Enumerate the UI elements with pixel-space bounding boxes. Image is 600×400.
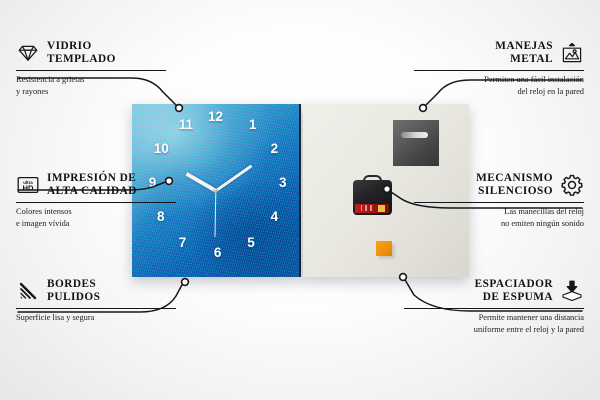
feature-header: MECANISMO SILENCIOSO — [414, 172, 584, 199]
clock-movement — [353, 180, 392, 215]
svg-text:HD: HD — [23, 184, 34, 193]
battery-tick — [370, 205, 371, 211]
feature-vidrio-templado: VIDRIO TEMPLADO Resistencia a grietas y … — [16, 40, 166, 97]
leader-dot-bordes-pulidos — [182, 279, 189, 286]
feature-title: BORDES PULIDOS — [47, 278, 100, 305]
feature-title: IMPRESIÓN DE ALTA CALIDAD — [47, 172, 137, 199]
feature-impresion-alta-calidad: ultra HD IMPRESIÓN DE ALTA CALIDAD Color… — [16, 172, 176, 229]
feature-title: MECANISMO SILENCIOSO — [476, 172, 553, 199]
clock-numeral-2: 2 — [271, 142, 279, 156]
battery-tick — [365, 205, 366, 211]
feature-title-line2: TEMPLADO — [47, 53, 116, 66]
diagonal-edges-icon — [16, 279, 40, 303]
feature-divider — [16, 308, 176, 309]
movement-hanging-loop — [363, 175, 382, 181]
battery-tick — [361, 205, 362, 211]
battery-compartment-label — [355, 204, 389, 213]
feature-description: Permiten una fácil instalación del reloj… — [414, 74, 584, 97]
wall-frame-icon — [560, 41, 584, 65]
feature-title-line2: SILENCIOSO — [476, 185, 553, 198]
feature-espaciador-espuma: ESPACIADOR DE ESPUMA Permite mantener un… — [404, 278, 584, 335]
feature-description: Permite mantener una distancia uniforme … — [404, 312, 584, 335]
feature-divider — [404, 308, 584, 309]
clock-numeral-11: 11 — [179, 118, 193, 132]
feature-title-line2: DE ESPUMA — [475, 291, 553, 304]
feature-title: MANEJAS METAL — [495, 40, 553, 67]
feature-title-line1: IMPRESIÓN DE — [47, 172, 137, 185]
feature-divider — [16, 202, 176, 203]
foam-spacer — [376, 241, 392, 256]
feature-divider — [16, 70, 166, 71]
feature-description: Resistencia a grietas y rayones — [16, 74, 166, 97]
hanger-keyhole-slot — [401, 132, 429, 138]
feature-header: MANEJAS METAL — [414, 40, 584, 67]
clock-numeral-3: 3 — [279, 176, 287, 190]
feature-header: VIDRIO TEMPLADO — [16, 40, 166, 67]
clock-numeral-6: 6 — [214, 246, 222, 260]
clock-numeral-10: 10 — [154, 142, 169, 156]
feature-divider — [414, 70, 584, 71]
feature-title-line2: ALTA CALIDAD — [47, 185, 137, 198]
feature-header: ultra HD IMPRESIÓN DE ALTA CALIDAD — [16, 172, 176, 199]
feature-title-line1: ESPACIADOR — [475, 278, 553, 291]
diamond-icon — [16, 41, 40, 65]
hanger-plate — [393, 120, 439, 166]
feature-bordes-pulidos: BORDES PULIDOS Superficie lisa y segura — [16, 278, 176, 324]
second-hand — [214, 190, 216, 236]
press-down-pad-icon — [560, 279, 584, 303]
feature-title-line1: VIDRIO — [47, 40, 116, 53]
clock-center-cap — [213, 188, 218, 193]
feature-title-line1: MANEJAS — [495, 40, 553, 53]
feature-title-line1: MECANISMO — [476, 172, 553, 185]
feature-manejas-metal: MANEJAS METAL Permiten una fácil instala… — [414, 40, 584, 97]
feature-title: VIDRIO TEMPLADO — [47, 40, 116, 67]
feature-header: ESPACIADOR DE ESPUMA — [404, 278, 584, 305]
feature-description: Las manecillas del reloj no emiten ningú… — [414, 206, 584, 229]
feature-description: Colores intensos e imagen vívida — [16, 206, 176, 229]
infographic-canvas: 12 1 2 3 4 5 6 7 8 9 10 11 — [0, 0, 600, 400]
clock-numeral-5: 5 — [247, 236, 255, 250]
feature-description: Superficie lisa y segura — [16, 312, 176, 324]
gear-icon — [560, 173, 584, 197]
feature-title-line2: METAL — [495, 53, 553, 66]
feature-mecanismo-silencioso: MECANISMO SILENCIOSO Las manecillas del … — [414, 172, 584, 229]
clock-numeral-12: 12 — [208, 110, 223, 124]
feature-title: ESPACIADOR DE ESPUMA — [475, 278, 553, 305]
feature-divider — [414, 202, 584, 203]
ultra-hd-icon: ultra HD — [16, 173, 40, 197]
feature-title-line1: BORDES — [47, 278, 100, 291]
battery-polarity-marker — [378, 205, 385, 212]
clock-numeral-4: 4 — [271, 210, 279, 224]
feature-title-line2: PULIDOS — [47, 291, 100, 304]
hour-hand — [185, 172, 216, 192]
clock-numeral-7: 7 — [179, 236, 187, 250]
minute-hand — [215, 164, 253, 192]
feature-header: BORDES PULIDOS — [16, 278, 176, 305]
clock-numeral-1: 1 — [249, 118, 257, 132]
